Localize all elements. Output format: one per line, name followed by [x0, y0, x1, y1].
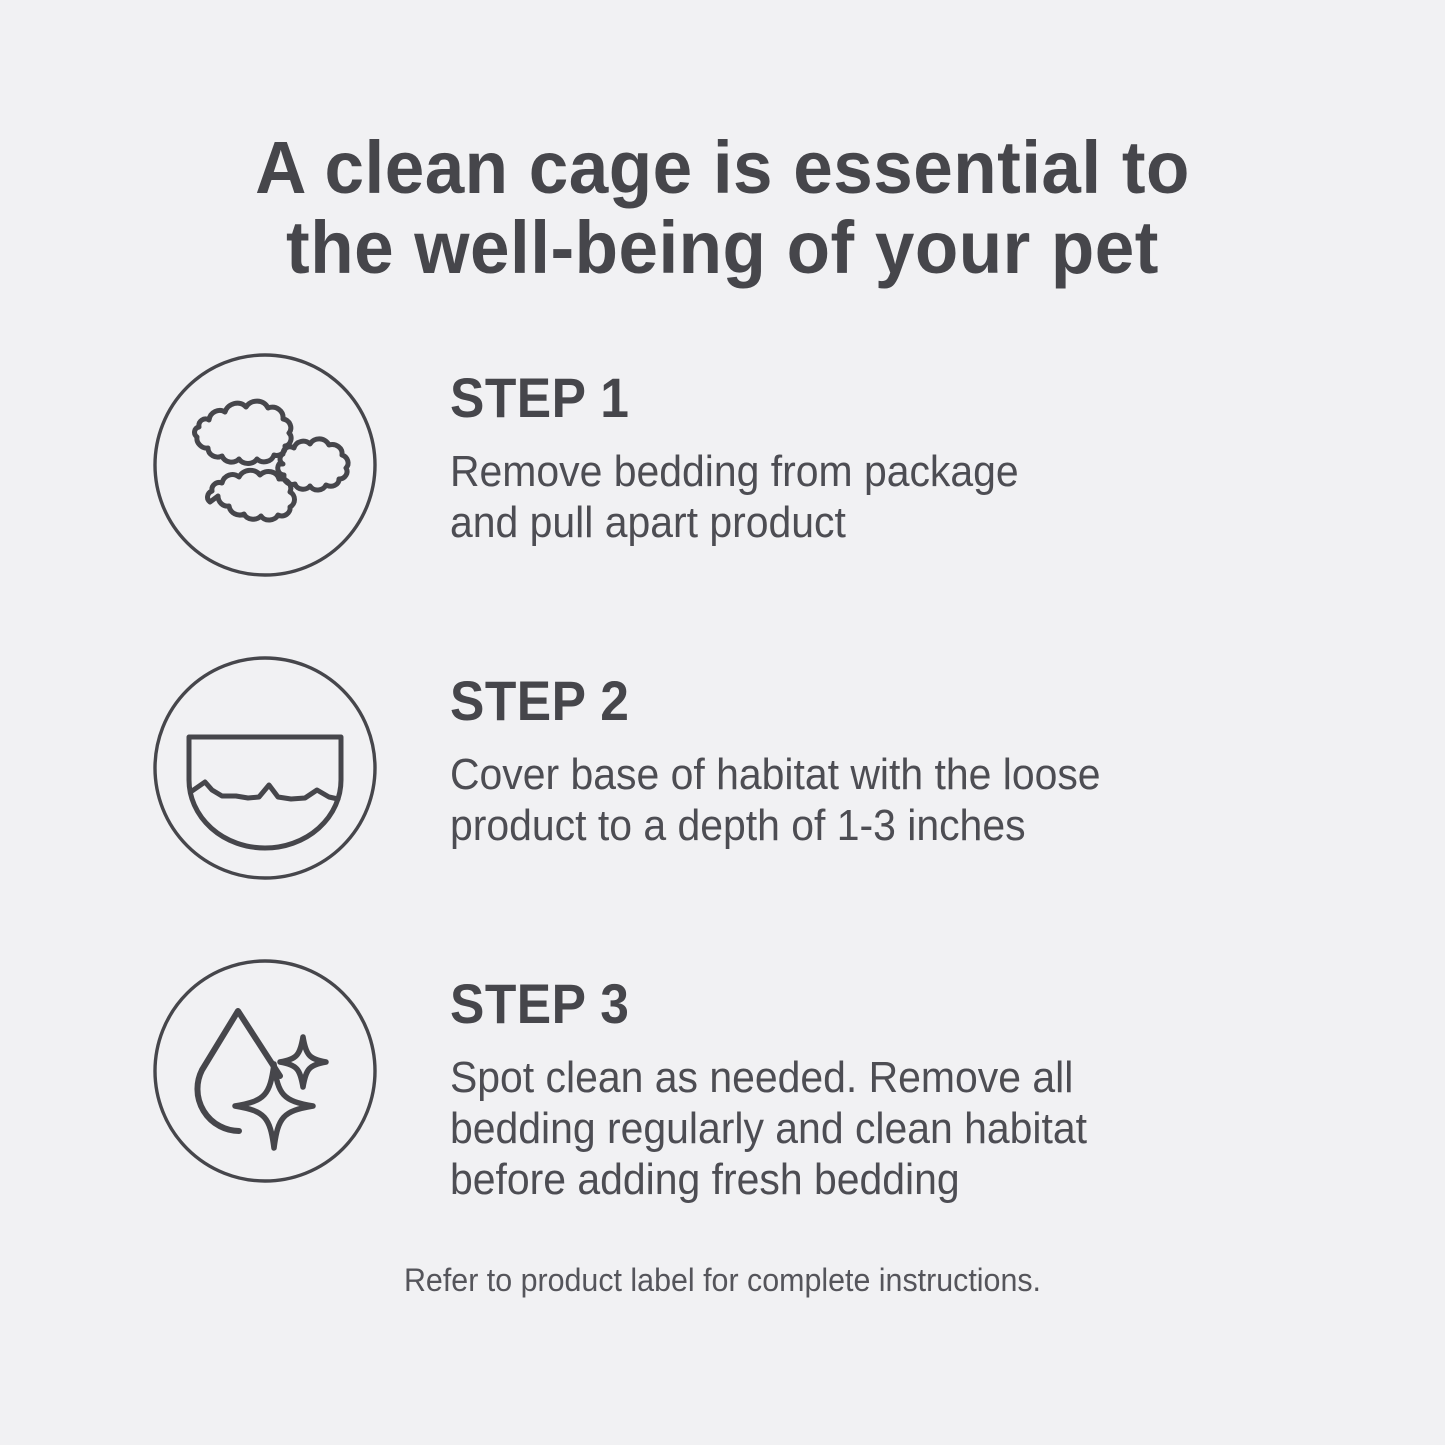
step-body: Cover base of habitat with the loose pro… — [450, 749, 1375, 851]
step-item: STEP 1 Remove bedding from package and p… — [0, 352, 1445, 655]
step-title: STEP 2 — [450, 673, 1365, 729]
step-body: Remove bedding from package and pull apa… — [450, 446, 1375, 548]
step-title: STEP 1 — [450, 370, 1365, 426]
infographic-page: A clean cage is essential to the well-be… — [0, 0, 1445, 1445]
page-title-line-1: A clean cage is essential to — [255, 126, 1190, 209]
step-text: STEP 2 Cover base of habitat with the lo… — [450, 655, 1445, 851]
step-item: STEP 2 Cover base of habitat with the lo… — [0, 655, 1445, 958]
step-title: STEP 3 — [450, 976, 1365, 1032]
step-text: STEP 3 Spot clean as needed. Remove all … — [450, 958, 1445, 1205]
page-title-line-2: the well-being of your pet — [29, 208, 1416, 288]
page-title: A clean cage is essential to the well-be… — [29, 128, 1416, 288]
habitat-container-icon — [152, 655, 378, 881]
step-text: STEP 1 Remove bedding from package and p… — [450, 352, 1445, 548]
bedding-clouds-icon — [152, 352, 378, 578]
step-body: Spot clean as needed. Remove all bedding… — [450, 1052, 1375, 1205]
step-item: STEP 3 Spot clean as needed. Remove all … — [0, 958, 1445, 1261]
footer-note: Refer to product label for complete inst… — [36, 1262, 1409, 1299]
steps-list: STEP 1 Remove bedding from package and p… — [0, 352, 1445, 1261]
droplet-sparkle-icon — [152, 958, 378, 1184]
